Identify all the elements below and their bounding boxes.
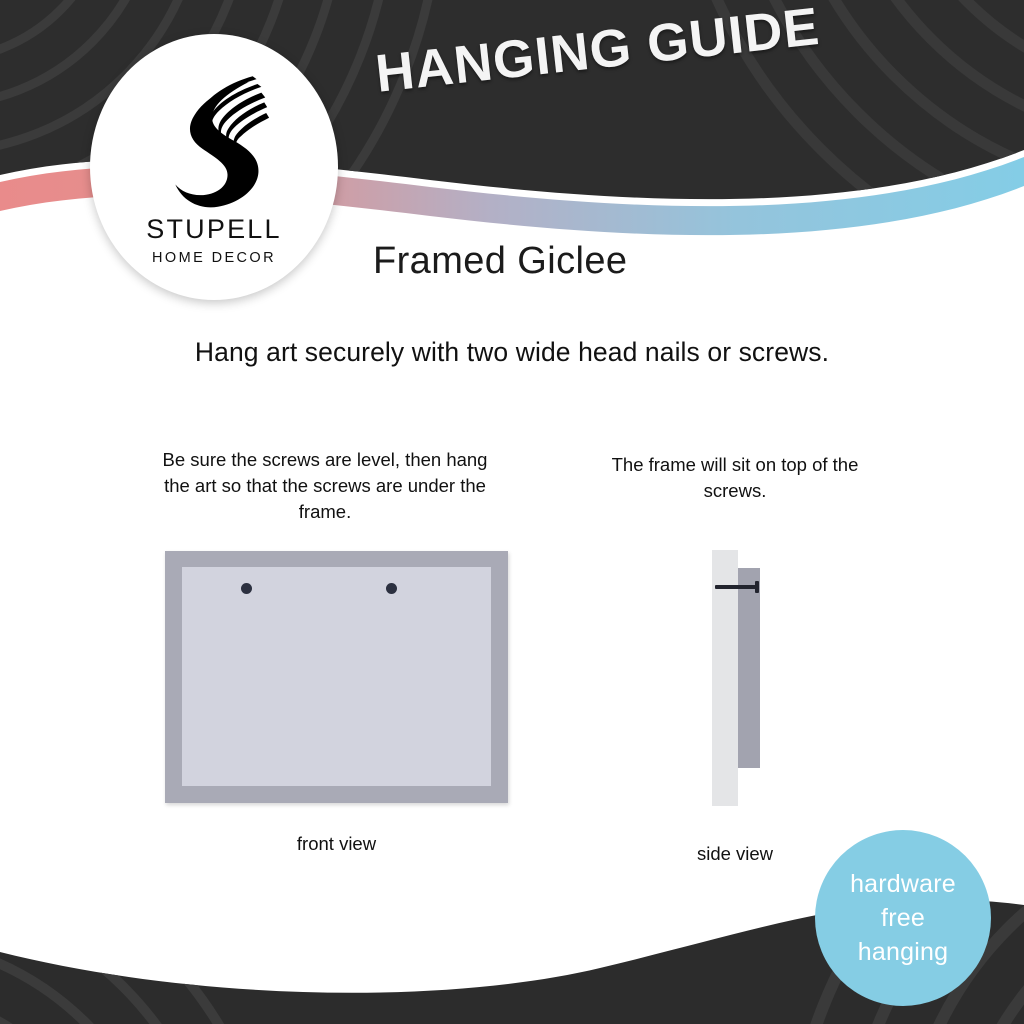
product-subtitle: Framed Giclee bbox=[373, 240, 627, 283]
brand-tagline: HOME DECOR bbox=[152, 250, 276, 266]
frame-profile bbox=[738, 568, 760, 768]
front-view-caption: front view bbox=[165, 833, 508, 855]
stupell-swoosh-logo-icon bbox=[156, 72, 272, 210]
front-view-note: Be sure the screws are level, then hang … bbox=[160, 447, 490, 525]
hardware-free-hanging-badge: hardware free hanging bbox=[815, 830, 991, 1006]
front-view-diagram bbox=[165, 551, 508, 803]
nail-shaft-icon bbox=[715, 585, 759, 589]
page-title: HANGING GUIDE bbox=[373, 0, 823, 105]
screw-dot-left bbox=[241, 583, 252, 594]
side-view-caption: side view bbox=[640, 843, 830, 865]
nail-head-icon bbox=[755, 581, 759, 593]
hanging-guide-page: STUPELL HOME DECOR HANGING GUIDE Framed … bbox=[0, 0, 1024, 1024]
main-instruction-text: Hang art securely with two wide head nai… bbox=[0, 337, 1024, 368]
side-view-diagram bbox=[705, 548, 775, 808]
badge-line-2: free bbox=[881, 901, 925, 935]
brand-name: STUPELL bbox=[146, 214, 281, 245]
badge-line-3: hanging bbox=[858, 935, 948, 969]
picture-frame-mat bbox=[182, 567, 491, 786]
badge-line-1: hardware bbox=[850, 867, 956, 901]
side-view-note: The frame will sit on top of the screws. bbox=[600, 452, 870, 504]
brand-logo-badge: STUPELL HOME DECOR bbox=[90, 34, 338, 300]
screw-dot-right bbox=[386, 583, 397, 594]
